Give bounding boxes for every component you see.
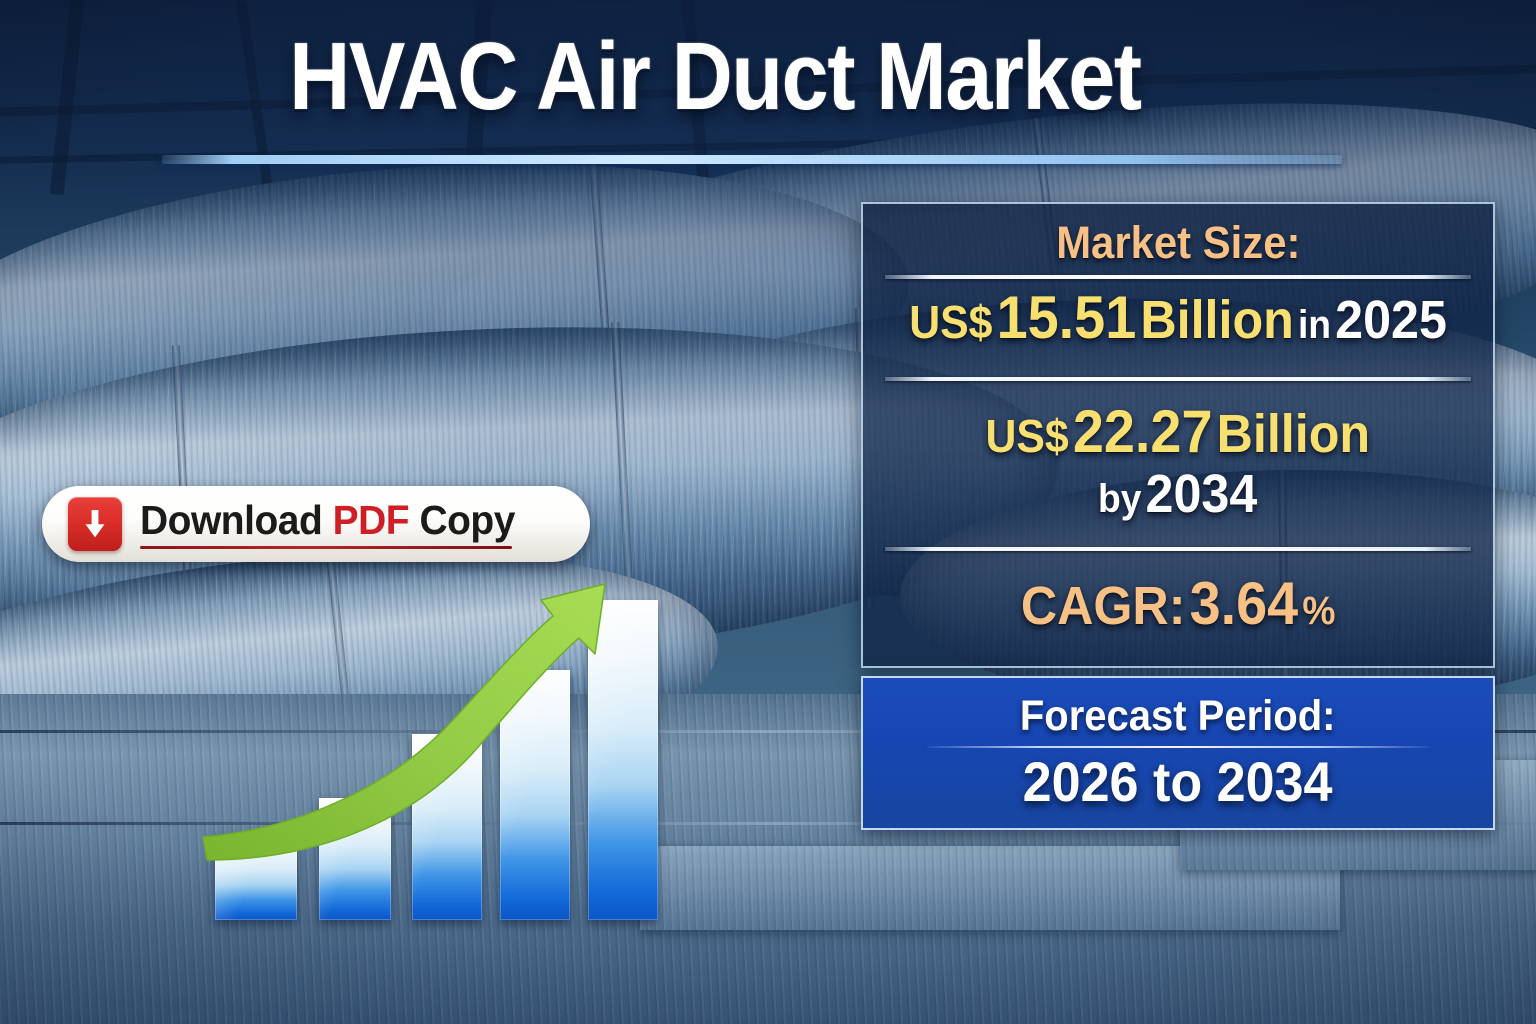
forecast-period-label: Forecast Period: [1020, 693, 1336, 740]
page-title: HVAC Air Duct Market [86, 28, 1344, 126]
forecast-connector: by [1098, 477, 1141, 521]
cagr-line: CAGR: 3.64 % [1021, 571, 1336, 637]
growth-arrow-icon [197, 554, 667, 884]
forecast-amount: 22.27 [1073, 398, 1213, 465]
forecast-period-value: 2026 to 2034 [1023, 752, 1333, 812]
forecast-period-box: Forecast Period: 2026 to 2034 [861, 676, 1495, 830]
base-year-unit: Billion [1140, 290, 1293, 350]
base-year-market-value: US$ 15.51 Billion in 2025 [909, 285, 1447, 351]
title-underline [162, 155, 1342, 164]
forecast-year: 2034 [1146, 464, 1258, 524]
cagr-label: CAGR: [1021, 576, 1186, 636]
download-word: Download [140, 497, 333, 543]
growth-bar-chart [205, 600, 675, 920]
download-pdf-text-block: Download PDF Copy [140, 499, 535, 548]
base-year-connector: in [1298, 303, 1331, 347]
panel-divider [885, 547, 1471, 551]
infographic-canvas: HVAC Air Duct Market Download PDF Copy [0, 0, 1536, 1024]
forecast-currency-label: US$ [986, 410, 1069, 462]
download-pdf-button[interactable]: Download PDF Copy [42, 486, 590, 562]
forecast-market-value: US$ 22.27 Billion [986, 399, 1371, 465]
pdf-word: PDF [333, 497, 409, 543]
download-arrow-icon [68, 497, 122, 551]
base-year-year: 2025 [1335, 290, 1447, 350]
cagr-value: 3.64 [1189, 570, 1298, 637]
market-stats-panel: Market Size: US$ 15.51 Billion in 2025 U… [861, 202, 1495, 668]
download-pdf-underline [140, 546, 512, 549]
base-year-amount: 15.51 [997, 284, 1137, 351]
forecast-unit: Billion [1217, 404, 1370, 464]
currency-label: US$ [909, 296, 992, 348]
copy-word: Copy [409, 497, 515, 543]
page-title-container: HVAC Air Duct Market [0, 28, 1430, 126]
forecast-divider [927, 746, 1429, 748]
download-pdf-label: Download PDF Copy [140, 499, 515, 542]
cagr-percent-symbol: % [1302, 589, 1335, 633]
panel-divider [885, 275, 1471, 279]
forecast-year-line: by 2034 [1098, 465, 1257, 524]
market-size-label: Market Size: [1056, 218, 1300, 268]
panel-divider [885, 377, 1471, 381]
